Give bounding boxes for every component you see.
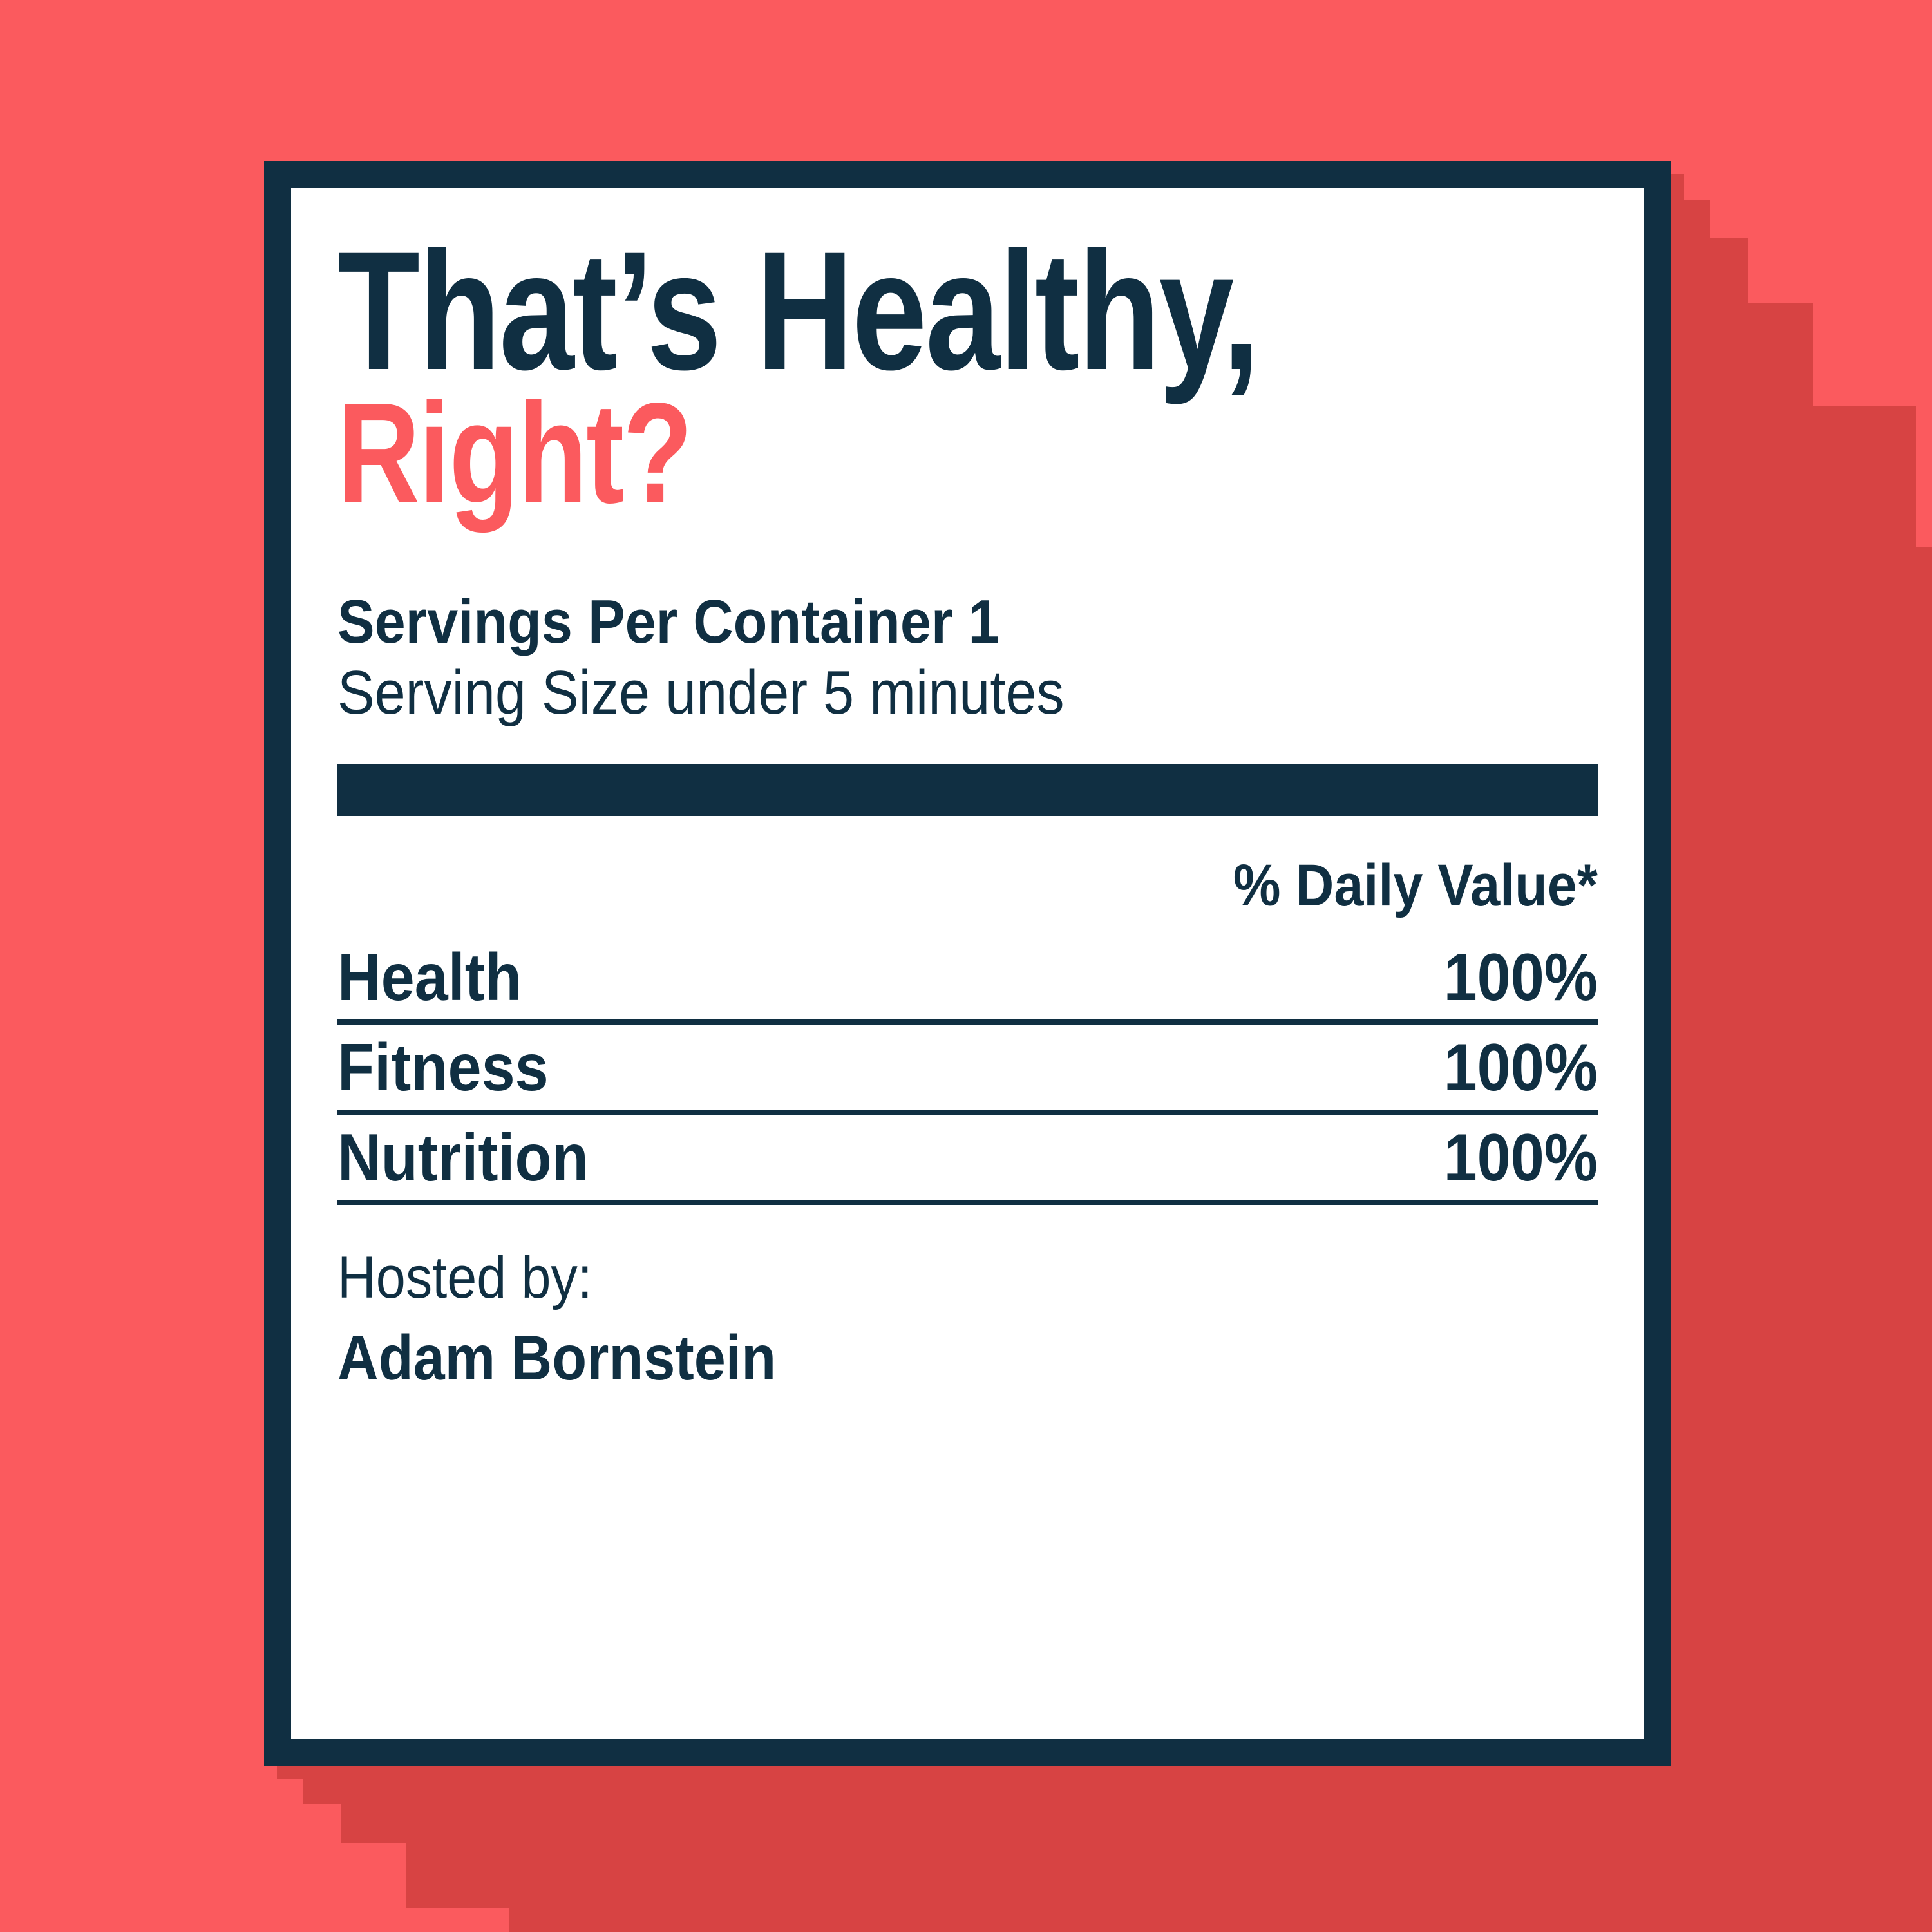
nutrient-label-nutrition: Nutrition	[337, 1124, 589, 1192]
servings-per-container-text: Servings Per Container 1	[337, 587, 1472, 657]
nutrient-value-health: 100%	[1444, 943, 1598, 1012]
table-row: Fitness 100%	[337, 1034, 1598, 1115]
podcast-cover-artwork: That’s Healthy, Right? Servings Per Cont…	[0, 0, 1932, 1932]
serving-size-text: Serving Size under 5 minutes	[337, 657, 1472, 728]
table-row: Health 100%	[337, 943, 1598, 1025]
host-block: Hosted by: Adam Bornstein	[337, 1242, 1598, 1396]
show-title-line-1: That’s Healthy,	[337, 227, 1346, 383]
nutrient-value-nutrition: 100%	[1444, 1124, 1598, 1192]
daily-value-column-header-label: % Daily Value*	[1233, 856, 1598, 915]
nutrition-label-inner: That’s Healthy, Right? Servings Per Cont…	[291, 188, 1644, 1739]
nutrition-label-card: That’s Healthy, Right? Servings Per Cont…	[264, 161, 1671, 1766]
servings-block: Servings Per Container 1 Serving Size un…	[337, 587, 1598, 728]
nutrient-label-health: Health	[337, 943, 522, 1012]
show-title: That’s Healthy, Right?	[337, 227, 1598, 515]
host-name: Adam Bornstein	[337, 1320, 1472, 1396]
thick-divider-bar	[337, 764, 1598, 816]
show-title-line-2: Right?	[337, 383, 1346, 515]
nutrient-rows: Health 100% Fitness 100% Nutrition 100%	[337, 943, 1598, 1205]
table-row: Nutrition 100%	[337, 1124, 1598, 1205]
nutrient-value-fitness: 100%	[1444, 1034, 1598, 1102]
nutrient-label-fitness: Fitness	[337, 1034, 549, 1102]
daily-value-column-header: % Daily Value*	[337, 856, 1598, 915]
hosted-by-label: Hosted by:	[337, 1242, 1472, 1313]
